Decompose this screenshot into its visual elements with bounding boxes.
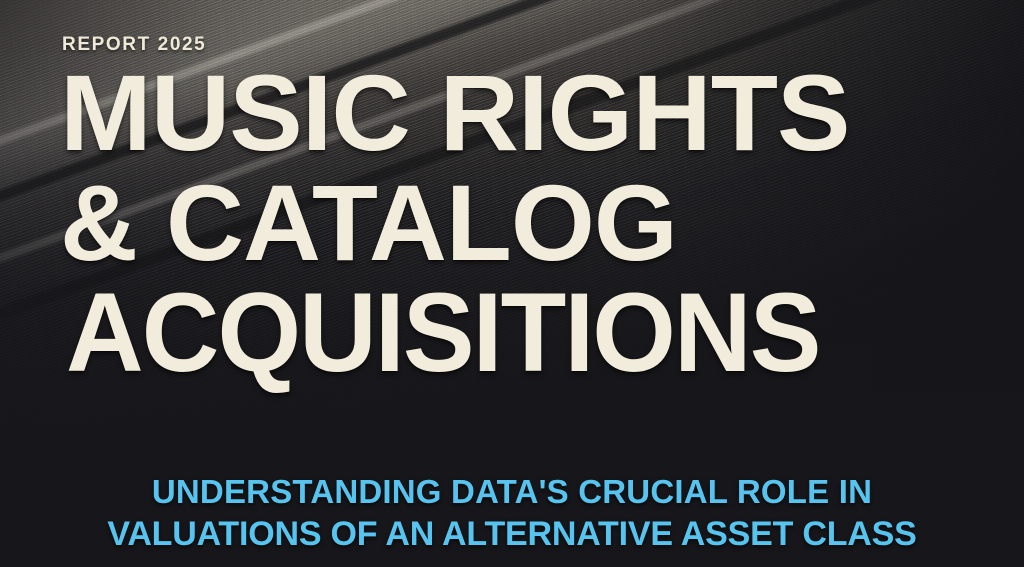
title-line-3: ACQUISITIONS [66, 283, 932, 384]
title-line-1: MUSIC RIGHTS [60, 64, 986, 161]
title-line-2: & CATALOG [60, 174, 968, 271]
cover-title: MUSIC RIGHTS & CATALOG ACQUISITIONS [60, 64, 968, 384]
subtitle-line-1: UNDERSTANDING DATA'S CRUCIAL ROLE IN [18, 471, 1006, 512]
cover-subtitle: UNDERSTANDING DATA'S CRUCIAL ROLE IN VAL… [0, 471, 1024, 555]
subtitle-line-2: VALUATIONS OF AN ALTERNATIVE ASSET CLASS [18, 513, 1006, 556]
report-cover: REPORT 2025 MUSIC RIGHTS & CATALOG ACQUI… [0, 0, 1024, 567]
